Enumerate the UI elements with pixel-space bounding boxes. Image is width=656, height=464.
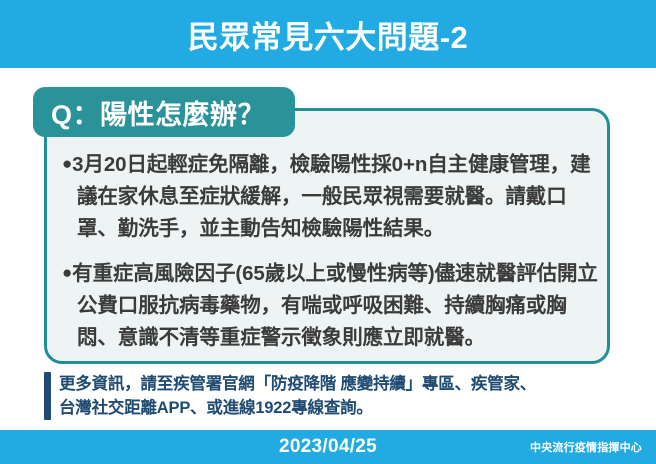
footer-note-marker-bar [44,372,51,420]
bottom-bar: 2023/04/25 中央流行疫情指揮中心 [0,430,656,464]
list-item: ●3月20日起輕症免隔離，檢驗陽性採0+n自主健康管理，建議在家休息至症狀緩解，… [62,148,602,245]
list-item-text: 3月20日起輕症免隔離，檢驗陽性採0+n自主健康管理，建議在家休息至症狀緩解，一… [72,153,590,240]
page-title: 民眾常見六大問題-2 [0,0,656,68]
bullet-dot-icon: ● [62,154,72,173]
footer-note-text: 更多資訊，請至疾管署官網「防疫降階 應變持續」專區、疾管家、 台灣社交距離APP… [51,372,536,420]
footer-note-line: 台灣社交距離APP、或進線1922專線查詢。 [59,396,536,420]
bullet-dot-icon: ● [62,263,72,282]
question-banner: Q：陽性怎麼辦？ [33,87,295,137]
header-band: 民眾常見六大問題-2 [0,0,656,68]
question-banner-label: Q：陽性怎麼辦？ [51,93,265,132]
footer-note: 更多資訊，請至疾管署官網「防疫降階 應變持續」專區、疾管家、 台灣社交距離APP… [44,372,644,420]
infographic-page: 民眾常見六大問題-2 Q：陽性怎麼辦？ ●3月20日起輕症免隔離，檢驗陽性採0+… [0,0,656,464]
list-item-text: 有重症高風險因子(65歲以上或慢性病等)儘速就醫評估開立公費口服抗病毒藥物，有喘… [72,262,598,349]
footer-note-line: 更多資訊，請至疾管署官網「防疫降階 應變持續」專區、疾管家、 [59,372,536,396]
answer-bullet-list: ●3月20日起輕症免隔離，檢驗陽性採0+n自主健康管理，建議在家休息至症狀緩解，… [62,148,602,354]
list-item: ●有重症高風險因子(65歲以上或慢性病等)儘速就醫評估開立公費口服抗病毒藥物，有… [62,257,602,354]
organization-name: 中央流行疫情指揮中心 [530,430,642,464]
